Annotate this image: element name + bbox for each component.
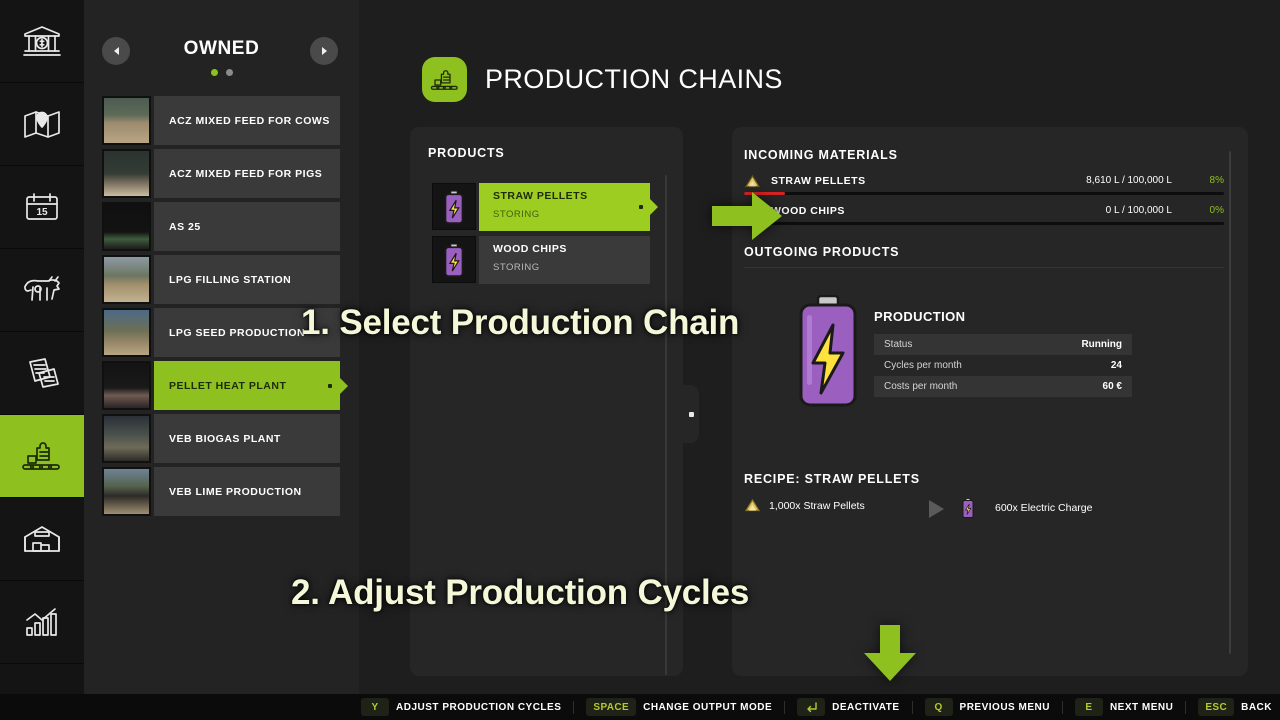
owned-item-body[interactable]: VEB BIOGAS PLANT bbox=[154, 414, 340, 463]
sidebar-item-production[interactable] bbox=[0, 415, 84, 498]
recipe-output: 600x Electric Charge bbox=[962, 498, 1092, 518]
hint-separator bbox=[1062, 701, 1063, 714]
hint-separator bbox=[912, 701, 913, 714]
incoming-material-row: WOOD CHIPS0 L / 100,000 L0% bbox=[744, 202, 1224, 232]
owned-item-body[interactable]: AS 25 bbox=[154, 202, 340, 251]
finances-icon bbox=[22, 24, 62, 58]
production-row-value: Running bbox=[1081, 339, 1122, 350]
owned-item-thumbnail bbox=[102, 202, 151, 251]
documents-icon bbox=[23, 356, 61, 390]
hint-item[interactable]: ESCBACK bbox=[1198, 698, 1272, 716]
owned-item-thumbnail bbox=[102, 361, 151, 410]
outgoing-products-header: OUTGOING PRODUCTS bbox=[744, 245, 899, 259]
material-percent: 8% bbox=[1188, 175, 1224, 186]
page-dot-1[interactable] bbox=[211, 69, 218, 76]
owned-item-label: LPG SEED PRODUCTION bbox=[169, 327, 305, 339]
details-scrollbar[interactable] bbox=[1229, 151, 1231, 654]
production-rows: StatusRunningCycles per month24Costs per… bbox=[874, 334, 1132, 397]
handle-dot-icon bbox=[689, 412, 694, 417]
page-title: PRODUCTION CHAINS bbox=[485, 64, 783, 95]
chevron-right-icon bbox=[322, 47, 327, 55]
enter-key-icon[interactable] bbox=[797, 698, 825, 716]
owned-item-label: VEB LIME PRODUCTION bbox=[169, 486, 302, 498]
hint-key[interactable]: Y bbox=[361, 698, 389, 716]
product-body[interactable]: WOOD CHIPSSTORING bbox=[479, 236, 650, 284]
material-amount: 0 L / 100,000 L bbox=[1106, 205, 1172, 216]
material-name: STRAW PELLETS bbox=[771, 175, 866, 187]
panel-collapse-handle[interactable] bbox=[683, 385, 699, 443]
owned-item-thumbnail bbox=[102, 149, 151, 198]
product-body[interactable]: STRAW PELLETSSTORING bbox=[479, 183, 650, 231]
hint-item[interactable]: DEACTIVATE bbox=[797, 698, 899, 716]
owned-page-dots bbox=[84, 69, 359, 76]
calendar-icon: 15 bbox=[23, 190, 61, 224]
production-row-value: 24 bbox=[1111, 360, 1122, 371]
selected-caret-icon bbox=[639, 205, 643, 209]
sidebar-item-storage[interactable] bbox=[0, 498, 84, 581]
owned-list-item[interactable]: VEB LIME PRODUCTION bbox=[102, 467, 340, 520]
hint-item[interactable]: QPREVIOUS MENU bbox=[925, 698, 1050, 716]
recipe-output-label: 600x Electric Charge bbox=[995, 502, 1092, 514]
production-row-value: 60 € bbox=[1103, 381, 1122, 392]
material-percent: 0% bbox=[1188, 205, 1224, 216]
cow-icon bbox=[21, 275, 63, 305]
hint-item[interactable]: SPACECHANGE OUTPUT MODE bbox=[586, 698, 772, 716]
owned-item-label: ACZ MIXED FEED FOR COWS bbox=[169, 115, 330, 127]
down-arrow-annotation bbox=[862, 623, 918, 683]
page-dot-2[interactable] bbox=[226, 69, 233, 76]
production-table-row: Costs per month60 € bbox=[874, 376, 1132, 397]
production-icon bbox=[430, 67, 460, 93]
owned-item-body[interactable]: VEB LIME PRODUCTION bbox=[154, 467, 340, 516]
svg-text:15: 15 bbox=[36, 207, 48, 218]
electric-charge-icon bbox=[443, 190, 465, 224]
owned-item-body[interactable]: ACZ MIXED FEED FOR PIGS bbox=[154, 149, 340, 198]
electric-charge-icon bbox=[443, 243, 465, 277]
owned-item-thumbnail bbox=[102, 255, 151, 304]
electric-charge-battery-icon bbox=[793, 293, 863, 411]
page-production-icon bbox=[422, 57, 467, 102]
production-table: PRODUCTION StatusRunningCycles per month… bbox=[874, 309, 1132, 397]
owned-item-body[interactable]: ACZ MIXED FEED FOR COWS bbox=[154, 96, 340, 145]
owned-next-button[interactable] bbox=[310, 37, 338, 65]
hint-item[interactable]: ENEXT MENU bbox=[1075, 698, 1173, 716]
material-amount: 8,610 L / 100,000 L bbox=[1086, 175, 1172, 186]
product-thumbnail bbox=[432, 236, 476, 283]
product-name: WOOD CHIPS bbox=[493, 243, 650, 255]
owned-item-label: PELLET HEAT PLANT bbox=[169, 380, 286, 392]
owned-list-item[interactable]: ACZ MIXED FEED FOR PIGS bbox=[102, 149, 340, 202]
owned-header: OWNED bbox=[84, 0, 359, 92]
owned-item-label: ACZ MIXED FEED FOR PIGS bbox=[169, 168, 322, 180]
hint-key[interactable]: E bbox=[1075, 698, 1103, 716]
product-list-item[interactable]: STRAW PELLETSSTORING bbox=[432, 183, 650, 231]
production-icon bbox=[21, 439, 63, 473]
production-row-key: Cycles per month bbox=[884, 360, 962, 371]
sidebar-item-statistics[interactable] bbox=[0, 581, 84, 664]
hint-key[interactable]: ESC bbox=[1198, 698, 1234, 716]
straw-pellets-icon bbox=[744, 498, 761, 513]
game-menu-screen: 15 bbox=[0, 0, 1280, 720]
hint-label: PREVIOUS MENU bbox=[960, 702, 1050, 713]
hint-label: NEXT MENU bbox=[1110, 702, 1173, 713]
sidebar-item-calendar[interactable]: 15 bbox=[0, 166, 84, 249]
incoming-materials-header: INCOMING MATERIALS bbox=[744, 148, 898, 162]
production-table-row: StatusRunning bbox=[874, 334, 1132, 355]
sidebar-item-animals[interactable] bbox=[0, 249, 84, 332]
sidebar-item-map[interactable] bbox=[0, 83, 84, 166]
sidebar-item-contracts[interactable] bbox=[0, 332, 84, 415]
hint-separator bbox=[784, 701, 785, 714]
outgoing-divider bbox=[744, 267, 1224, 268]
hint-label: DEACTIVATE bbox=[832, 702, 899, 713]
material-fill-bar bbox=[744, 192, 1224, 195]
owned-item-thumbnail bbox=[102, 414, 151, 463]
production-table-row: Cycles per month24 bbox=[874, 355, 1132, 376]
recipe-arrow-icon bbox=[929, 500, 944, 518]
owned-item-thumbnail bbox=[102, 96, 151, 145]
recipe-input: 1,000x Straw Pellets bbox=[744, 498, 865, 513]
owned-item-label: VEB BIOGAS PLANT bbox=[169, 433, 281, 445]
recipe-input-label: 1,000x Straw Pellets bbox=[769, 500, 865, 512]
hint-label: ADJUST PRODUCTION CYCLES bbox=[396, 702, 561, 713]
hint-item[interactable]: YADJUST PRODUCTION CYCLES bbox=[361, 698, 561, 716]
statistics-icon bbox=[22, 606, 62, 638]
owned-list-item[interactable]: PELLET HEAT PLANT bbox=[102, 361, 340, 414]
material-fill-bar bbox=[744, 222, 1224, 225]
owned-item-body[interactable]: LPG FILLING STATION bbox=[154, 255, 340, 304]
owned-list-item[interactable]: LPG FILLING STATION bbox=[102, 255, 340, 308]
owned-list-item[interactable]: VEB BIOGAS PLANT bbox=[102, 414, 340, 467]
production-row-key: Status bbox=[884, 339, 912, 350]
page-header: PRODUCTION CHAINS bbox=[422, 57, 783, 102]
right-arrow-annotation bbox=[710, 190, 784, 242]
details-card: INCOMING MATERIALS STRAW PELLETS8,610 L … bbox=[732, 127, 1248, 676]
annotation-step-2: 2. Adjust Production Cycles bbox=[291, 573, 749, 613]
sidebar-rail: 15 bbox=[0, 0, 84, 720]
hint-label: BACK bbox=[1241, 702, 1272, 713]
hint-bar: YADJUST PRODUCTION CYCLESSPACECHANGE OUT… bbox=[0, 694, 1280, 720]
recipe-header: RECIPE: STRAW PELLETS bbox=[744, 472, 920, 486]
annotation-step-1: 1. Select Production Chain bbox=[301, 303, 739, 343]
product-name: STRAW PELLETS bbox=[493, 190, 650, 202]
hint-separator bbox=[573, 701, 574, 714]
hint-separator bbox=[1185, 701, 1186, 714]
incoming-material-row: STRAW PELLETS8,610 L / 100,000 L8% bbox=[744, 172, 1224, 202]
owned-item-thumbnail bbox=[102, 308, 151, 357]
hint-label: CHANGE OUTPUT MODE bbox=[643, 702, 772, 713]
owned-item-label: AS 25 bbox=[169, 221, 201, 233]
products-header: PRODUCTS bbox=[428, 146, 505, 160]
hint-key[interactable]: SPACE bbox=[586, 698, 636, 716]
sidebar-item-finances[interactable] bbox=[0, 0, 84, 83]
owned-item-label: LPG FILLING STATION bbox=[169, 274, 291, 286]
products-list: STRAW PELLETSSTORINGWOOD CHIPSSTORING bbox=[432, 183, 650, 289]
electric-charge-icon bbox=[962, 498, 974, 518]
incoming-materials-list: STRAW PELLETS8,610 L / 100,000 L8%WOOD C… bbox=[744, 172, 1224, 232]
owned-item-thumbnail bbox=[102, 467, 151, 516]
outgoing-product-icon bbox=[765, 282, 890, 422]
selected-caret-icon bbox=[328, 384, 332, 388]
map-icon bbox=[22, 108, 62, 140]
hint-key[interactable]: Q bbox=[925, 698, 953, 716]
owned-list-item[interactable]: ACZ MIXED FEED FOR COWS bbox=[102, 96, 340, 149]
owned-item-body[interactable]: PELLET HEAT PLANT bbox=[154, 361, 340, 410]
warehouse-icon bbox=[21, 523, 63, 555]
product-status: STORING bbox=[493, 262, 650, 273]
production-table-title: PRODUCTION bbox=[874, 309, 1132, 324]
owned-list-item[interactable]: AS 25 bbox=[102, 202, 340, 255]
product-list-item[interactable]: WOOD CHIPSSTORING bbox=[432, 236, 650, 284]
product-status: STORING bbox=[493, 209, 650, 220]
recipe-row: 1,000x Straw Pellets 600x Electric Charg… bbox=[744, 498, 1224, 520]
production-row-key: Costs per month bbox=[884, 381, 957, 392]
product-thumbnail bbox=[432, 183, 476, 230]
